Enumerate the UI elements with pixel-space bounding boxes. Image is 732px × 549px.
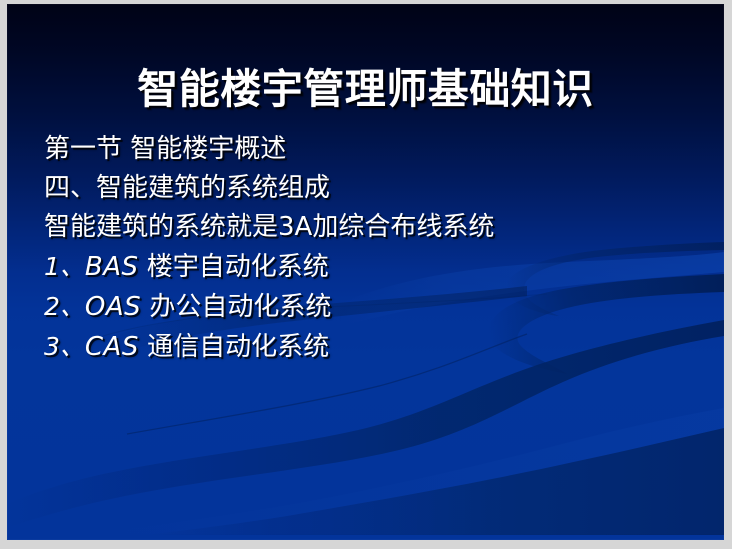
- slide-canvas: 智能楼宇管理师基础知识 第一节 智能楼宇概述 四、智能建筑的系统组成 智能建筑的…: [7, 4, 724, 540]
- item-oas-number: 2、: [44, 292, 85, 321]
- item-oas-label: 办公自动化系统: [141, 292, 331, 322]
- section-heading: 第一节 智能楼宇概述: [44, 130, 704, 169]
- definition-prefix: 智能建筑的系统就是: [44, 212, 278, 242]
- list-item: 1、BAS 楼宇自动化系统: [44, 247, 704, 287]
- list-item: 2、OAS 办公自动化系统: [44, 287, 704, 327]
- item-bas-acronym: BAS: [85, 252, 139, 282]
- body-content: 第一节 智能楼宇概述 四、智能建筑的系统组成 智能建筑的系统就是3A加综合布线系…: [44, 130, 704, 367]
- item-bas-number: 1、: [44, 252, 85, 281]
- page-title: 智能楼宇管理师基础知识: [137, 67, 594, 113]
- definition-line: 智能建筑的系统就是3A加综合布线系统: [44, 208, 704, 247]
- item-bas-label: 楼宇自动化系统: [139, 252, 329, 282]
- item-oas-acronym: OAS: [85, 292, 141, 322]
- definition-emphasis-3a: 3A: [278, 212, 312, 242]
- title-block: 智能楼宇管理师基础知识: [7, 40, 724, 141]
- item-cas-number: 3、: [44, 332, 85, 361]
- list-item: 3、CAS 通信自动化系统: [44, 327, 704, 367]
- subsection-heading: 四、智能建筑的系统组成: [44, 169, 704, 208]
- item-cas-acronym: CAS: [85, 332, 139, 362]
- definition-suffix: 加综合布线系统: [312, 212, 494, 242]
- item-cas-label: 通信自动化系统: [139, 332, 329, 362]
- slide-frame: 智能楼宇管理师基础知识 第一节 智能楼宇概述 四、智能建筑的系统组成 智能建筑的…: [0, 0, 732, 549]
